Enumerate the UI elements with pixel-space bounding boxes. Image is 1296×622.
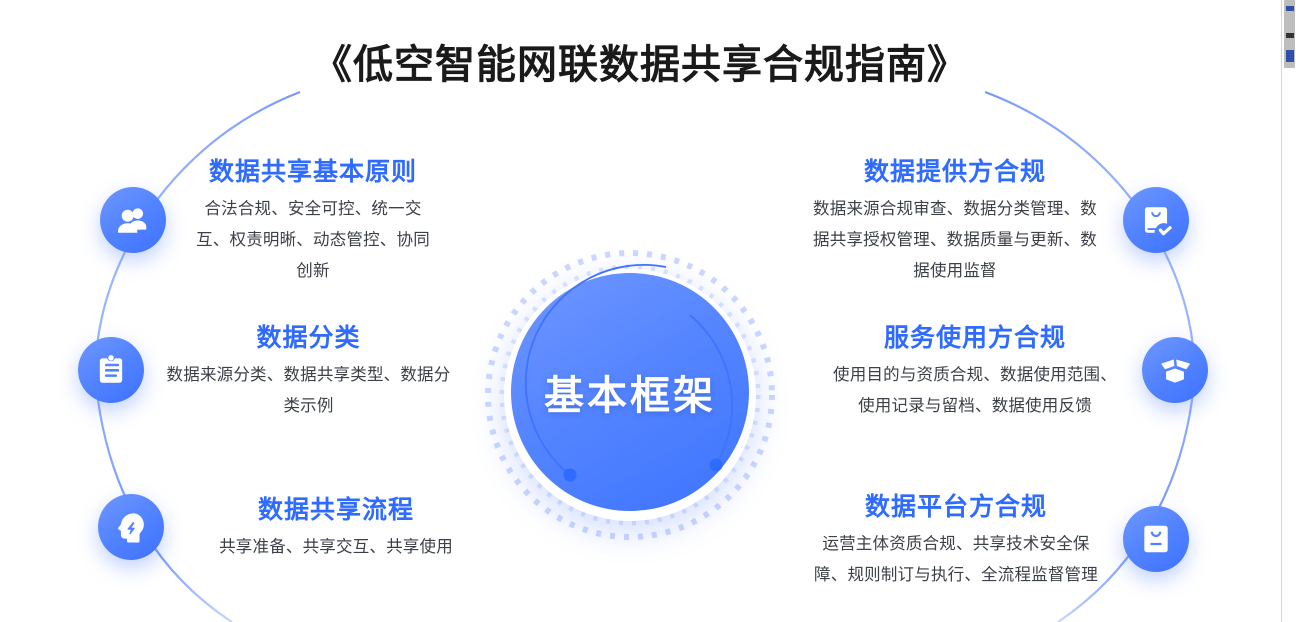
node-description: 使用目的与资质合规、数据使用范围、使用记录与留档、数据使用反馈 <box>830 360 1120 422</box>
node-text: 数据共享流程 共享准备、共享交互、共享使用 <box>186 490 486 563</box>
users-icon <box>100 187 166 253</box>
node-title: 数据平台方合规 <box>811 487 1101 523</box>
clipboard-icon <box>78 337 144 403</box>
node-description: 数据来源分类、数据共享类型、数据分类示例 <box>166 360 451 422</box>
scrollbar-marker <box>1286 33 1294 38</box>
node-description: 共享准备、共享交互、共享使用 <box>186 532 486 563</box>
node-platform[interactable]: 数据平台方合规 运营主体资质合规、共享技术安全保障、规则制订与执行、全流程监督管… <box>811 487 1189 591</box>
node-title: 数据分类 <box>166 318 451 354</box>
infographic-canvas: 《低空智能网联数据共享合规指南》 <box>0 0 1296 622</box>
node-title: 数据提供方合规 <box>809 152 1101 188</box>
center-framework-group: 基本框架 <box>478 243 782 547</box>
scrollbar-marker <box>1286 50 1294 62</box>
node-title: 服务使用方合规 <box>830 318 1120 354</box>
node-consumer[interactable]: 服务使用方合规 使用目的与资质合规、数据使用范围、使用记录与留档、数据使用反馈 <box>830 318 1208 422</box>
document-check-icon <box>1123 187 1189 253</box>
node-description: 合法合规、安全可控、统一交互、权责明晰、动态管控、协同创新 <box>188 194 438 287</box>
page-title: 《低空智能网联数据共享合规指南》 <box>0 32 1280 90</box>
node-title: 数据共享流程 <box>186 490 486 526</box>
window-edge-strip <box>1281 0 1296 622</box>
node-title: 数据共享基本原则 <box>188 152 438 188</box>
node-text: 数据平台方合规 运营主体资质合规、共享技术安全保障、规则制订与执行、全流程监督管… <box>811 487 1101 591</box>
node-text: 服务使用方合规 使用目的与资质合规、数据使用范围、使用记录与留档、数据使用反馈 <box>830 318 1120 422</box>
node-principles[interactable]: 数据共享基本原则 合法合规、安全可控、统一交互、权责明晰、动态管控、协同创新 <box>100 152 438 287</box>
node-description: 运营主体资质合规、共享技术安全保障、规则制订与执行、全流程监督管理 <box>811 529 1101 591</box>
node-classification[interactable]: 数据分类 数据来源分类、数据共享类型、数据分类示例 <box>78 318 451 422</box>
node-description: 数据来源合规审查、数据分类管理、数据共享授权管理、数据质量与更新、数据使用监督 <box>809 194 1101 287</box>
document-card-icon <box>1123 506 1189 572</box>
node-text: 数据共享基本原则 合法合规、安全可控、统一交互、权责明晰、动态管控、协同创新 <box>188 152 438 287</box>
node-text: 数据提供方合规 数据来源合规审查、数据分类管理、数据共享授权管理、数据质量与更新… <box>809 152 1101 287</box>
center-accent-arcs <box>478 243 782 547</box>
node-process[interactable]: 数据共享流程 共享准备、共享交互、共享使用 <box>98 490 486 563</box>
brain-head-icon <box>98 494 164 560</box>
node-provider[interactable]: 数据提供方合规 数据来源合规审查、数据分类管理、数据共享授权管理、数据质量与更新… <box>809 152 1189 287</box>
open-box-icon <box>1142 337 1208 403</box>
node-text: 数据分类 数据来源分类、数据共享类型、数据分类示例 <box>166 318 451 422</box>
scrollbar-marker <box>1286 6 1294 11</box>
